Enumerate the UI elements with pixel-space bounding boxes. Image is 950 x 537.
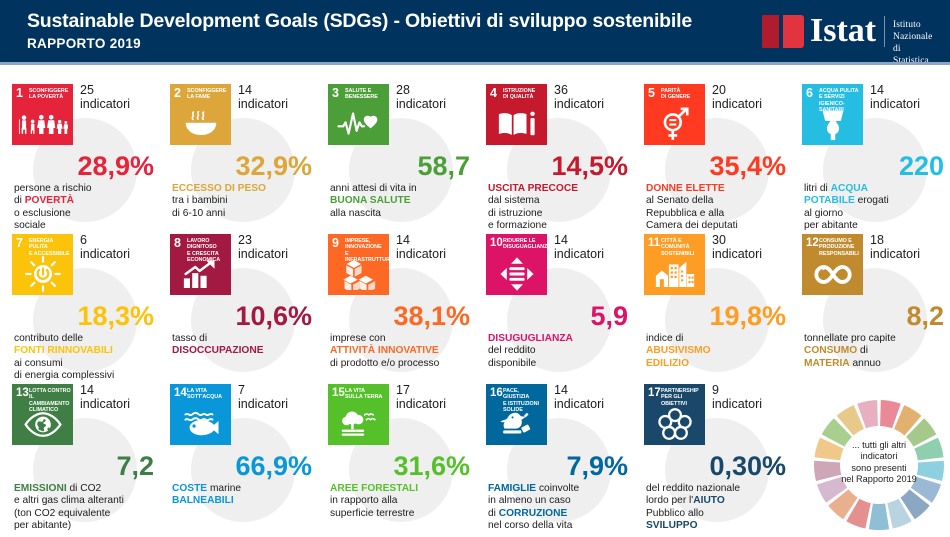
page-title: Sustainable Development Goals (SDGs) - O… xyxy=(27,10,692,33)
goal-tile-title-line: LA FAME xyxy=(187,94,229,100)
goal-tile-title: ISTRUZIONEDI QUALITÀ xyxy=(503,88,545,101)
goal-tile-13[interactable]: 13LOTTA CONTROIL CAMBIAMENTOCLIMATICO xyxy=(12,384,73,445)
goal-stat-value: 10,6% xyxy=(235,302,312,330)
infinity-loop-icon xyxy=(802,256,863,292)
goal-stat-value: 66,9% xyxy=(235,452,312,480)
goal-tile-title: LA VITASULLA TERRA xyxy=(345,388,387,401)
partnership-rings-icon xyxy=(644,406,705,442)
cubes-industry-icon xyxy=(328,256,389,292)
goal-number: 3 xyxy=(332,87,339,100)
page-header: Sustainable Development Goals (SDGs) - O… xyxy=(0,0,950,62)
goal-description: AREE FORESTALIin rapporto allasuperficie… xyxy=(330,483,472,520)
growth-chart-icon xyxy=(170,256,231,292)
indicator-label: indicatori xyxy=(396,247,446,261)
dove-gavel-icon xyxy=(486,406,547,442)
goal-description: DONNE ELETTEal Senato dellaRepubblica e … xyxy=(646,183,788,233)
goal-number: 2 xyxy=(174,87,181,100)
page-subtitle: RAPPORTO 2019 xyxy=(27,36,141,51)
goal-stat-value: 35,4% xyxy=(709,152,786,180)
steaming-bowl-icon xyxy=(170,106,231,142)
goal-tile-10[interactable]: 10RIDURRE LEDISUGUAGLIANZE xyxy=(486,234,547,295)
open-book-icon xyxy=(486,106,547,142)
indicator-count: 20 xyxy=(712,83,726,97)
indicator-count: 9 xyxy=(712,383,719,397)
goal-description: del reddito nazionalelordo per l'AIUTOPu… xyxy=(646,483,788,533)
indicator-count: 14 xyxy=(80,383,94,397)
goal-tile-1[interactable]: 1SCONFIGGERELA POVERTÀ xyxy=(12,84,73,145)
goal-description: indice diABUSIVISMOEDILIZIO xyxy=(646,333,788,370)
goal-tile-title: CONSUMO EPRODUZIONERESPONSABILI xyxy=(819,238,861,257)
goal-stat-value: 8,2 xyxy=(906,302,944,330)
goal-stat-value: 0,30% xyxy=(709,452,786,480)
goal-number: 13 xyxy=(16,387,29,400)
goal-number: 5 xyxy=(648,87,655,100)
indicator-label: indicatori xyxy=(80,247,130,261)
goal-tile-title: ENERGIA PULITAE ACCESSIBILE xyxy=(29,238,71,257)
goal-tile-title-line: SOTT'ACQUA xyxy=(187,394,229,400)
equality-arrows-icon xyxy=(486,256,547,292)
goal-stat-value: 28,9% xyxy=(77,152,154,180)
indicator-label: indicatori xyxy=(80,97,130,111)
climate-eye-earth-icon xyxy=(12,406,73,442)
header-underline xyxy=(0,62,950,65)
gender-equality-icon xyxy=(644,106,705,142)
logo-wordmark: Istat xyxy=(810,11,876,51)
goal-number: 8 xyxy=(174,237,181,250)
water-glass-drop-icon xyxy=(802,106,863,142)
goal-description: USCITA PRECOCEdal sistemadi istruzionee … xyxy=(488,183,630,233)
goal-number: 9 xyxy=(332,237,339,250)
goal-tile-title: RIDURRE LEDISUGUAGLIANZE xyxy=(503,238,545,251)
goal-description: EMISSIONI di CO2e altri gas clima altera… xyxy=(14,483,156,533)
goal-number: 10 xyxy=(490,237,503,250)
indicator-label: indicatori xyxy=(396,397,446,411)
goal-description: ECCESSO DI PESOtra i bambinidi 6-10 anni xyxy=(172,183,314,220)
indicator-count: 14 xyxy=(554,383,568,397)
istat-logo: Istat Istituto Nazionale di Statistica xyxy=(762,13,937,51)
indicator-label: indicatori xyxy=(396,97,446,111)
sdg-wheel-caption: ... tutti gli altriindicatorisono presen… xyxy=(836,440,922,486)
goal-tile-title: LA VITASOTT'ACQUA xyxy=(187,388,229,401)
logo-divider xyxy=(884,16,885,47)
goal-tile-title-line: IL CAMBIAMENTO xyxy=(29,394,71,407)
indicator-count: 23 xyxy=(238,233,252,247)
goal-description: DISUGUGLIANZAdel redditodisponibile xyxy=(488,333,630,370)
goal-description: anni attesi di vita inBUONA SALUTEalla n… xyxy=(330,183,472,220)
goal-number: 4 xyxy=(490,87,497,100)
indicator-label: indicatori xyxy=(712,247,762,261)
indicator-label: indicatori xyxy=(238,247,288,261)
tree-birds-icon xyxy=(328,406,389,442)
indicator-label: indicatori xyxy=(554,97,604,111)
goal-tile-6[interactable]: 6ACQUA PULITAE SERVIZIIGIENICO-SANITARI xyxy=(802,84,863,145)
indicator-count: 7 xyxy=(238,383,245,397)
indicator-label: indicatori xyxy=(712,97,762,111)
goal-tile-3[interactable]: 3SALUTE EBENESSERE xyxy=(328,84,389,145)
wheel-segment xyxy=(869,504,889,530)
indicator-label: indicatori xyxy=(712,397,762,411)
sdg-infographic-page: Sustainable Development Goals (SDGs) - O… xyxy=(0,0,950,534)
goal-tile-title-line: BENESSERE xyxy=(345,94,387,100)
goal-tile-7[interactable]: 7ENERGIA PULITAE ACCESSIBILE xyxy=(12,234,73,295)
indicator-count: 6 xyxy=(80,233,87,247)
goal-stat-value: 7,9% xyxy=(566,452,628,480)
goal-description: COSTE marineBALNEABILI xyxy=(172,483,314,508)
indicator-count: 28 xyxy=(396,83,410,97)
goal-tile-title-line: CITTÀ E COMUNITÀ xyxy=(661,238,703,251)
indicator-count: 14 xyxy=(554,233,568,247)
goal-tile-title-line: LA POVERTÀ xyxy=(29,94,71,100)
goal-tile-title-line: PACE, GIUSTIZIA xyxy=(503,388,545,401)
indicator-count: 14 xyxy=(238,83,252,97)
logo-tagline-line1: Istituto Nazionale xyxy=(893,19,937,43)
indicator-label: indicatori xyxy=(238,397,288,411)
indicator-count: 36 xyxy=(554,83,568,97)
goal-tile-15[interactable]: 15LA VITASULLA TERRA xyxy=(328,384,389,445)
goal-tile-5[interactable]: 5PARITÀDI GENERE xyxy=(644,84,705,145)
goal-description: persone a rischiodi POVERTÀo esclusiones… xyxy=(14,183,156,233)
goal-number: 12 xyxy=(806,237,819,250)
logo-tagline: Istituto Nazionale di Statistica xyxy=(893,19,937,67)
heartbeat-icon xyxy=(328,106,389,142)
goal-stat-value: 5,9 xyxy=(590,302,628,330)
goal-stat-value: 32,9% xyxy=(235,152,312,180)
goal-tile-title-line: LAVORO DIGNITOSO xyxy=(187,238,229,251)
goal-tile-title-line: INNOVAZIONE xyxy=(345,244,387,250)
indicator-label: indicatori xyxy=(80,397,130,411)
goal-number: 1 xyxy=(16,87,23,100)
goal-number: 7 xyxy=(16,237,23,250)
goal-tile-title-line: DI GENERE xyxy=(661,94,703,100)
goal-description: tonnellate pro capiteCONSUMO diMATERIA a… xyxy=(804,333,946,370)
goal-tile-title: PARITÀDI GENERE xyxy=(661,88,703,101)
goal-number: 16 xyxy=(490,387,503,400)
goal-tile-4[interactable]: 4ISTRUZIONEDI QUALITÀ xyxy=(486,84,547,145)
goal-tile-8[interactable]: 8LAVORO DIGNITOSOE CRESCITAECONOMICA xyxy=(170,234,231,295)
goal-tile-9[interactable]: 9IMPRESE,INNOVAZIONEE INFRASTRUTTURE xyxy=(328,234,389,295)
goal-tile-title-line: DI QUALITÀ xyxy=(503,94,545,100)
indicator-label: indicatori xyxy=(870,247,920,261)
goal-tile-title-line: ENERGIA PULITA xyxy=(29,238,71,251)
goal-tile-title-line: DISUGUAGLIANZE xyxy=(503,244,545,250)
goal-tile-14[interactable]: 14LA VITASOTT'ACQUA xyxy=(170,384,231,445)
goal-tile-16[interactable]: 16PACE, GIUSTIZIAE ISTITUZIONISOLIDE xyxy=(486,384,547,445)
goal-stat-value: 18,3% xyxy=(77,302,154,330)
goal-tile-2[interactable]: 2SCONFIGGERELA FAME xyxy=(170,84,231,145)
indicator-count: 14 xyxy=(870,83,884,97)
goal-tile-12[interactable]: 12CONSUMO EPRODUZIONERESPONSABILI xyxy=(802,234,863,295)
sun-power-icon xyxy=(12,256,73,292)
indicator-count: 30 xyxy=(712,233,726,247)
goal-stat-value: 58,7 xyxy=(417,152,470,180)
goal-number: 17 xyxy=(648,387,661,400)
goal-tile-title: SCONFIGGERELA POVERTÀ xyxy=(29,88,71,101)
indicator-count: 14 xyxy=(396,233,410,247)
indicator-count: 17 xyxy=(396,383,410,397)
goal-stat-value: 19,8% xyxy=(709,302,786,330)
goal-number: 14 xyxy=(174,387,187,400)
wheel-caption-line: ... tutti gli altri xyxy=(836,440,922,451)
goal-description: tasso diDISOCCUPAZIONE xyxy=(172,333,314,358)
logo-bar-light-icon xyxy=(783,15,804,48)
goal-description: FAMIGLIE coinvoltein almeno un casodi CO… xyxy=(488,483,630,533)
goal-number: 15 xyxy=(332,387,345,400)
goal-tile-title: CITTÀ E COMUNITÀSOSTENIBILI xyxy=(661,238,703,257)
goal-tile-title-line: SULLA TERRA xyxy=(345,394,387,400)
indicator-count: 25 xyxy=(80,83,94,97)
sdg-wheel: ... tutti gli altriindicatorisono presen… xyxy=(812,398,946,532)
wheel-caption-line: nel Rapporto 2019 xyxy=(836,474,922,485)
goal-description: imprese conATTIVITÀ INNOVATIVEdi prodott… xyxy=(330,333,472,370)
goal-description: contributo delleFONTI RINNOVABILIai cons… xyxy=(14,333,156,383)
indicator-label: indicatori xyxy=(870,97,920,111)
goal-number: 11 xyxy=(648,237,660,250)
goal-tile-title: SCONFIGGERELA FAME xyxy=(187,88,229,101)
fish-waves-icon xyxy=(170,406,231,442)
goal-tile-11[interactable]: 11CITTÀ E COMUNITÀSOSTENIBILI xyxy=(644,234,705,295)
goal-stat-value: 31,6% xyxy=(393,452,470,480)
goal-stat-value: 220 xyxy=(899,152,944,180)
indicator-label: indicatori xyxy=(554,247,604,261)
indicator-label: indicatori xyxy=(554,397,604,411)
goal-tile-title-line: LOTTA CONTRO xyxy=(29,388,71,394)
wheel-caption-line: indicatori xyxy=(836,451,922,462)
city-buildings-icon xyxy=(644,256,705,292)
indicator-label: indicatori xyxy=(238,97,288,111)
goal-stat-value: 14,5% xyxy=(551,152,628,180)
logo-bar-dark-icon xyxy=(762,15,779,48)
goal-number: 6 xyxy=(806,87,813,100)
poverty-people-icon xyxy=(12,106,73,142)
goal-tile-title: PARTNERSHIPPER GLI OBIETTIVI xyxy=(661,388,703,407)
goal-stat-value: 7,2 xyxy=(116,452,154,480)
goal-tile-17[interactable]: 17PARTNERSHIPPER GLI OBIETTIVI xyxy=(644,384,705,445)
goal-description: litri di ACQUAPOTABILE erogatial giornop… xyxy=(804,183,946,233)
goal-tile-title: SALUTE EBENESSERE xyxy=(345,88,387,101)
goal-tile-title-line: PER GLI OBIETTIVI xyxy=(661,394,703,407)
wheel-caption-line: sono presenti xyxy=(836,463,922,474)
indicator-count: 18 xyxy=(870,233,884,247)
goal-stat-value: 38,1% xyxy=(393,302,470,330)
